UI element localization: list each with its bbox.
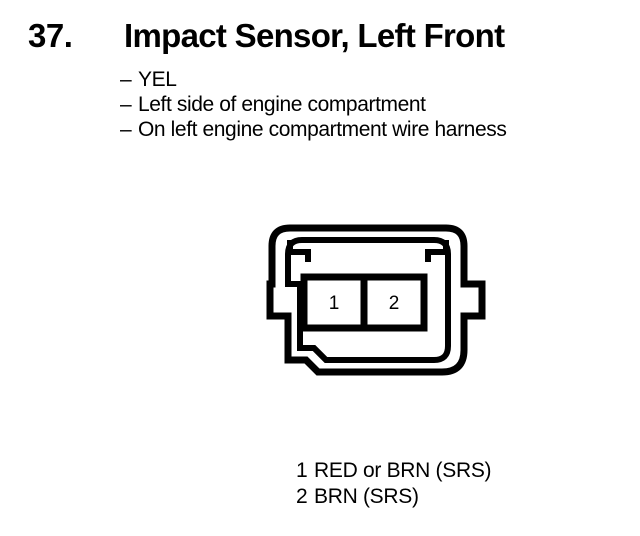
pin-number-1: 1 (329, 293, 340, 314)
dash-bullet-icon: – (120, 117, 138, 142)
legend-row: 1 RED or BRN (SRS) (296, 458, 626, 484)
attribute-location: Left side of engine compartment (138, 92, 426, 117)
attribute-wire-color: YEL (138, 67, 177, 92)
legend-row: 2 BRN (SRS) (296, 484, 626, 510)
attribute-harness: On left engine compartment wire harness (138, 117, 506, 142)
page-title: Impact Sensor, Left Front (124, 18, 504, 54)
list-item: – On left engine compartment wire harnes… (120, 117, 620, 142)
dash-bullet-icon: – (120, 67, 138, 92)
dash-bullet-icon: – (120, 92, 138, 117)
latch-notch-right-icon (428, 240, 446, 262)
latch-notch-left-icon (290, 240, 308, 262)
legend-pin-description: BRN (SRS) (314, 484, 419, 510)
entry-header: 37. Impact Sensor, Left Front (0, 0, 640, 60)
connector-diagram: 1 2 (230, 210, 500, 400)
pin-legend: 1 RED or BRN (SRS) 2 BRN (SRS) (296, 458, 626, 510)
entry-number: 37. (28, 18, 72, 54)
connector-outline-svg: 1 2 (230, 210, 500, 400)
pin-number-2: 2 (389, 293, 400, 314)
legend-pin-number: 1 (296, 458, 314, 484)
list-item: – Left side of engine compartment (120, 92, 620, 117)
attribute-list: – YEL – Left side of engine compartment … (120, 67, 620, 142)
legend-pin-description: RED or BRN (SRS) (314, 458, 491, 484)
list-item: – YEL (120, 67, 620, 92)
legend-pin-number: 2 (296, 484, 314, 510)
